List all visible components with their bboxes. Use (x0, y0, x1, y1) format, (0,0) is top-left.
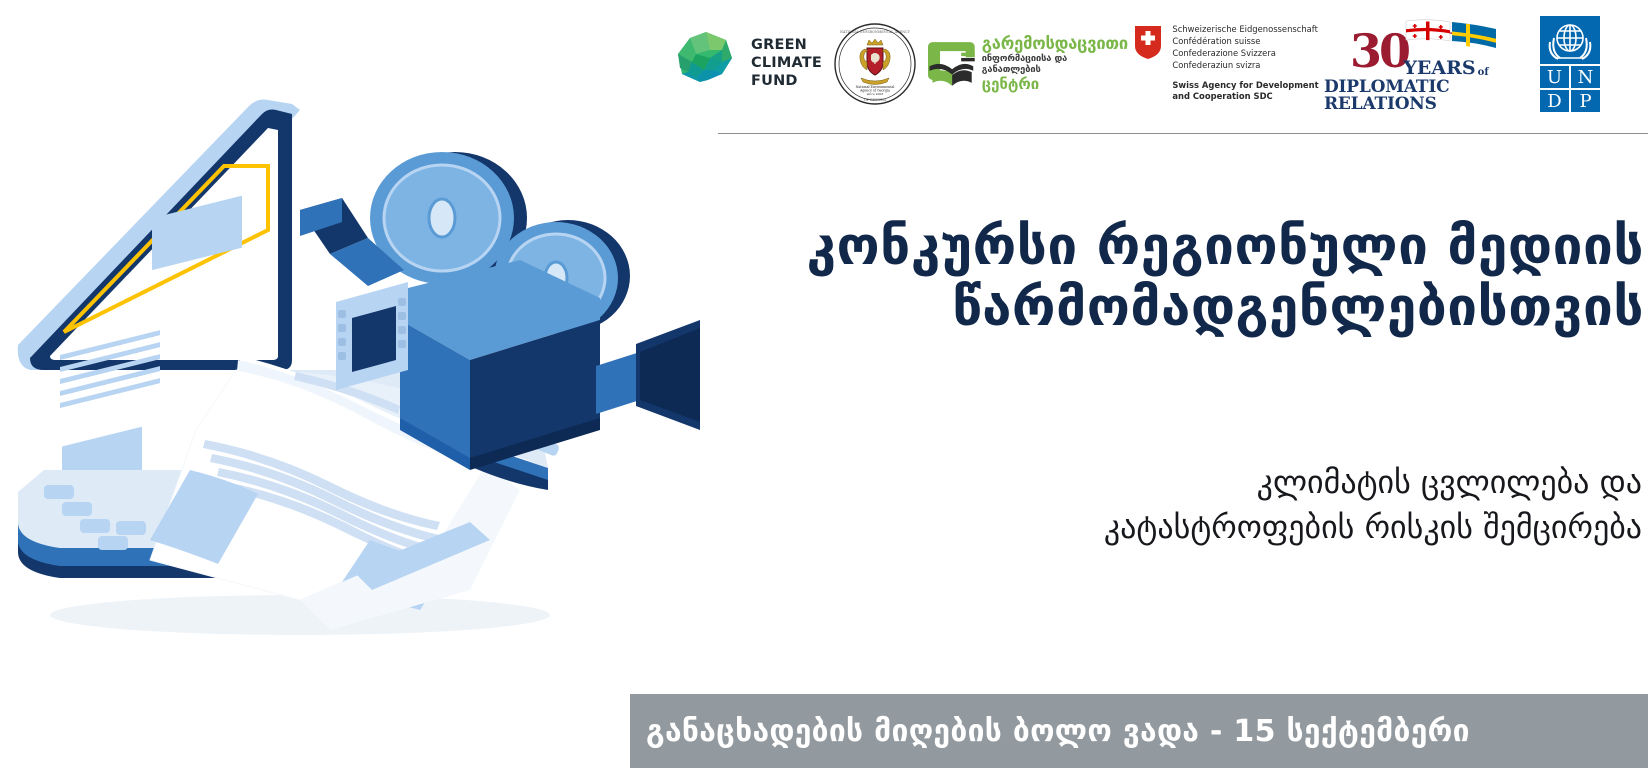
sdc-line-3: Confederazione Svizzera (1172, 48, 1318, 60)
svg-text:NATIONAL ENVIRONMENTAL AGENCY: NATIONAL ENVIRONMENTAL AGENCY (840, 30, 911, 34)
gcf-line-2: CLIMATE (751, 55, 822, 73)
sdc-line-4: Confederaziun svizra (1172, 60, 1318, 72)
sdc-line-6: and Cooperation SDC (1172, 91, 1318, 102)
page-title: კონკურსი რეგიონული მედიის წარმომადგენლებ… (660, 216, 1648, 339)
environmental-information-and-education-centre-logo: გარემოსდაცვითი ინფორმაციისა და განათლები… (928, 8, 1128, 120)
green-climate-fund-logo: GREEN CLIMATE FUND (670, 8, 822, 120)
30-years-word: YEARS (1403, 59, 1475, 78)
swiss-agency-development-cooperation-logo: Schweizerische Eidgenossenschaft Confédé… (1128, 8, 1324, 120)
swiss-cross-shield-icon (1133, 24, 1163, 60)
gcf-line-1: GREEN (751, 37, 822, 55)
svg-text:OF GEORGIA: OF GEORGIA (864, 98, 887, 102)
svg-text:D: D (1547, 91, 1561, 112)
svg-text:P: P (1579, 91, 1591, 112)
eiec-label: გარემოსდაცვითი ინფორმაციისა და განათლები… (982, 34, 1128, 93)
deadline-banner: განაცხადების მიღების ბოლო ვადა - 15 სექტ… (630, 694, 1648, 768)
gcf-line-3: FUND (751, 73, 822, 91)
subtitle-line-2: კატასტროფების რისკის შემცირება (660, 505, 1642, 550)
svg-text:U: U (1547, 67, 1562, 88)
deadline-text: განაცხადების მიღების ბოლო ვადა - 15 სექტ… (646, 714, 1470, 749)
header-divider (718, 133, 1648, 134)
green-climate-fund-sphere-icon (670, 28, 742, 100)
eiec-line-1: გარემოსდაცვითი (982, 34, 1128, 53)
eiec-line-3: ცენტრი (982, 76, 1128, 94)
sdc-line-1: Schweizerische Eidgenossenschaft (1172, 24, 1318, 36)
page-subtitle: კლიმატის ცვლილება და კატასტროფების რისკი… (660, 460, 1648, 550)
undp-logo: U N D P (1524, 8, 1616, 120)
sdc-line-2: Confédération suisse (1172, 36, 1318, 48)
title-line-1: კონკურსი რეგიონული მედიის (660, 216, 1644, 277)
georgia-national-environmental-agency-emblem: NATIONAL ENVIRONMENTAL AGENCY OF GEORGIA… (822, 8, 928, 120)
partner-logos-strip: GREEN CLIMATE FUND NATIONAL ENVIRONMENTA… (670, 8, 1648, 120)
poster-root: GREEN CLIMATE FUND NATIONAL ENVIRONMENTA… (0, 0, 1648, 768)
eiec-line-2: ინფორმაციისა და განათლების (982, 54, 1128, 76)
30-years-number: 30 (1350, 31, 1408, 71)
georgia-sweden-flags-icon (1402, 15, 1498, 61)
eiec-book-icon (928, 31, 975, 97)
svg-text:since 2008: since 2008 (867, 92, 884, 96)
laptop-newspaper-and-movie-camera-illustration (0, 70, 700, 650)
title-line-2: წარმომადგენლებისთვის (660, 277, 1644, 338)
30-years-diplomatic-relations-logo: 30 (1324, 8, 1524, 120)
sdc-label: Schweizerische Eidgenossenschaft Confédé… (1172, 24, 1318, 102)
subtitle-line-1: კლიმატის ცვლილება და (660, 460, 1642, 505)
svg-text:N: N (1578, 67, 1594, 88)
georgia-emblem-icon: NATIONAL ENVIRONMENTAL AGENCY OF GEORGIA… (833, 22, 917, 106)
sdc-line-5: Swiss Agency for Development (1172, 80, 1318, 91)
diplomatic-relations-label: DIPLOMATIC RELATIONS (1324, 79, 1524, 113)
green-climate-fund-label: GREEN CLIMATE FUND (751, 37, 822, 91)
undp-emblem-icon: U N D P (1534, 16, 1606, 112)
30-years-of-word: of (1476, 67, 1489, 78)
